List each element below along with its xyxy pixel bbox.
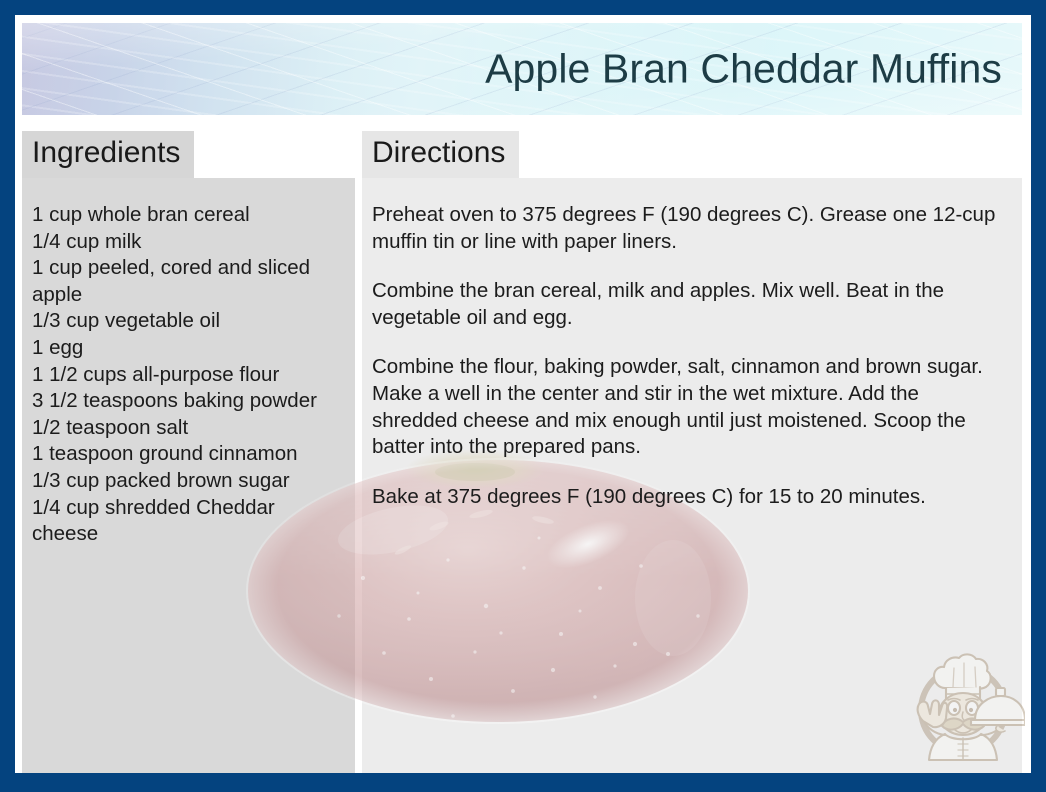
list-item: 1/3 cup packed brown sugar <box>32 468 341 495</box>
title-banner: Apple Bran Cheddar Muffins <box>22 23 1022 115</box>
list-item: 1 cup whole bran cereal <box>32 202 341 229</box>
list-item: 1 1/2 cups all-purpose flour <box>32 362 341 389</box>
list-item: Preheat oven to 375 degrees F (190 degre… <box>372 202 1006 255</box>
list-item: Combine the flour, baking powder, salt, … <box>372 354 1006 460</box>
ingredient-list: 1 cup whole bran cereal 1/4 cup milk 1 c… <box>32 202 341 548</box>
recipe-card: Apple Bran Cheddar Muffins <box>0 0 1046 792</box>
list-item: 1/2 teaspoon salt <box>32 415 341 442</box>
list-item: 3 1/2 teaspoons baking powder <box>32 388 341 415</box>
section-header-ingredients: Ingredients <box>22 131 194 178</box>
ingredients-panel: 1 cup whole bran cereal 1/4 cup milk 1 c… <box>22 178 355 773</box>
list-item: 1/4 cup shredded Cheddar cheese <box>32 495 341 548</box>
recipe-page: Apple Bran Cheddar Muffins <box>15 15 1031 773</box>
section-header-directions: Directions <box>362 131 519 178</box>
list-item: 1/4 cup milk <box>32 229 341 256</box>
list-item: Combine the bran cereal, milk and apples… <box>372 278 1006 331</box>
list-item: 1 egg <box>32 335 341 362</box>
page-title: Apple Bran Cheddar Muffins <box>485 46 1002 93</box>
list-item: 1 cup peeled, cored and sliced apple <box>32 255 341 308</box>
direction-step-list: Preheat oven to 375 degrees F (190 degre… <box>372 202 1006 510</box>
directions-panel: Preheat oven to 375 degrees F (190 degre… <box>362 178 1022 773</box>
list-item: Bake at 375 degrees F (190 degrees C) fo… <box>372 484 1006 511</box>
list-item: 1 teaspoon ground cinnamon <box>32 441 341 468</box>
list-item: 1/3 cup vegetable oil <box>32 308 341 335</box>
